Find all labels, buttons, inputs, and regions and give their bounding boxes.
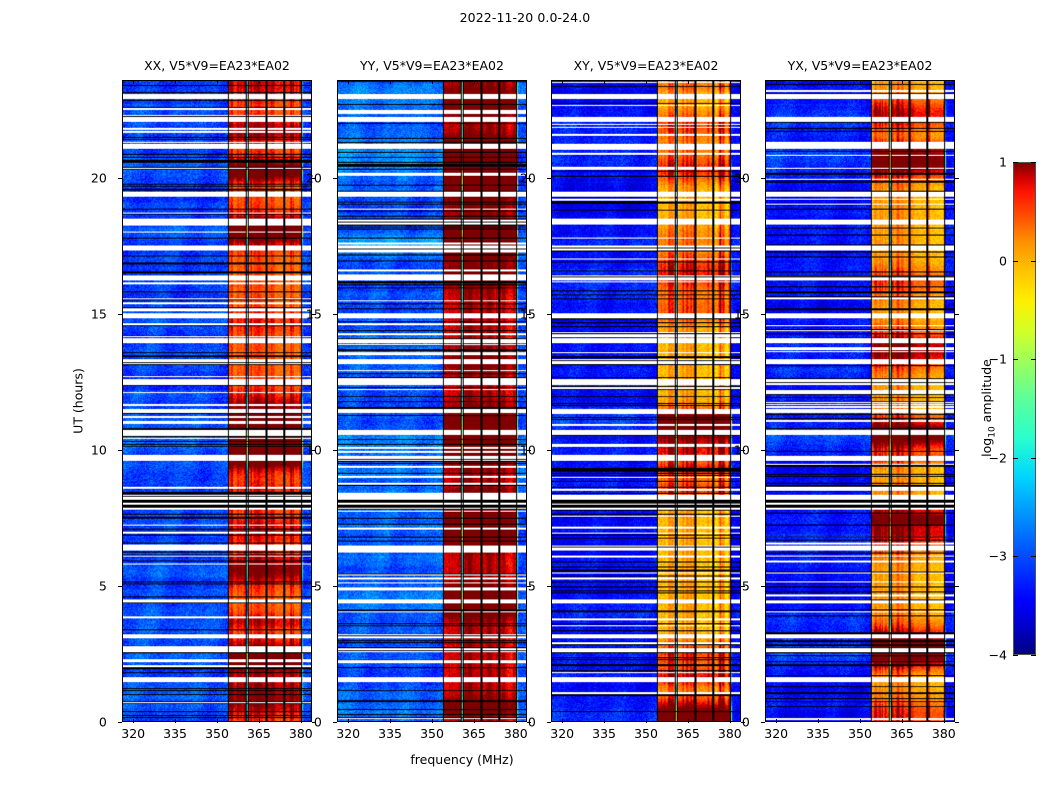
colorbar-tick-mark-right bbox=[1031, 359, 1036, 360]
x-tick-mark-top bbox=[902, 80, 903, 84]
x-tick-label: 380 bbox=[289, 726, 313, 741]
x-tick-mark bbox=[818, 719, 819, 723]
x-tick-mark-top bbox=[818, 80, 819, 84]
x-tick-mark bbox=[562, 719, 563, 723]
y-tick-mark bbox=[761, 178, 765, 179]
y-tick-mark bbox=[333, 450, 337, 451]
y-axis-title: UT (hours) bbox=[71, 368, 86, 434]
colorbar-tick-mark bbox=[1013, 162, 1018, 163]
x-tick-mark-top bbox=[730, 80, 731, 84]
panel-yx[interactable]: YX, V5*V9=EA23*EA02 32033535036538005101… bbox=[765, 80, 955, 722]
x-tick-label: 365 bbox=[676, 726, 700, 741]
colorbar[interactable]: −4−3−2−101 bbox=[1013, 162, 1036, 655]
x-tick-mark-top bbox=[217, 80, 218, 84]
colorbar-gradient bbox=[1013, 162, 1036, 655]
x-tick-label: 380 bbox=[932, 726, 956, 741]
x-tick-label: 365 bbox=[247, 726, 271, 741]
colorbar-tick-label: 1 bbox=[999, 155, 1007, 170]
x-tick-label: 335 bbox=[163, 726, 187, 741]
y-tick-mark-right bbox=[955, 178, 959, 179]
y-tick-mark bbox=[333, 722, 337, 723]
y-tick-label: 20 bbox=[306, 170, 322, 185]
x-tick-mark-top bbox=[688, 80, 689, 84]
y-tick-label: 0 bbox=[528, 715, 536, 730]
x-tick-label: 365 bbox=[890, 726, 914, 741]
x-axis-title: frequency (MHz) bbox=[0, 752, 1050, 767]
y-tick-mark bbox=[547, 586, 551, 587]
y-tick-mark bbox=[547, 178, 551, 179]
y-tick-mark-right bbox=[955, 722, 959, 723]
x-tick-mark bbox=[730, 719, 731, 723]
colorbar-title: log10 amplitude bbox=[979, 359, 998, 457]
x-tick-mark-top bbox=[301, 80, 302, 84]
x-tick-label: 320 bbox=[550, 726, 574, 741]
x-tick-mark bbox=[390, 719, 391, 723]
colorbar-tick-mark-right bbox=[1031, 655, 1036, 656]
panel-xx[interactable]: XX, V5*V9=EA23*EA02 32033535036538005101… bbox=[122, 80, 312, 722]
colorbar-tick-mark-right bbox=[1031, 261, 1036, 262]
x-tick-label: 350 bbox=[205, 726, 229, 741]
y-tick-mark bbox=[333, 178, 337, 179]
x-tick-mark-top bbox=[432, 80, 433, 84]
x-tick-mark bbox=[944, 719, 945, 723]
y-tick-mark bbox=[547, 450, 551, 451]
x-tick-mark-top bbox=[646, 80, 647, 84]
x-tick-label: 335 bbox=[806, 726, 830, 741]
y-tick-mark bbox=[118, 586, 122, 587]
colorbar-tick-mark bbox=[1013, 359, 1018, 360]
heatmap-axes-yx[interactable] bbox=[765, 80, 955, 722]
y-tick-mark bbox=[547, 314, 551, 315]
y-tick-label: 0 bbox=[742, 715, 750, 730]
colorbar-tick-mark bbox=[1013, 556, 1018, 557]
x-tick-label: 350 bbox=[848, 726, 872, 741]
x-tick-mark-top bbox=[259, 80, 260, 84]
x-tick-mark bbox=[217, 719, 218, 723]
colorbar-tick-mark bbox=[1013, 458, 1018, 459]
panel-title-yx: YX, V5*V9=EA23*EA02 bbox=[788, 58, 933, 73]
x-tick-mark-top bbox=[474, 80, 475, 84]
panel-title-xx: XX, V5*V9=EA23*EA02 bbox=[144, 58, 290, 73]
x-tick-mark-top bbox=[516, 80, 517, 84]
colorbar-tick-mark-right bbox=[1031, 556, 1036, 557]
x-tick-label: 335 bbox=[378, 726, 402, 741]
y-tick-label: 20 bbox=[91, 170, 107, 185]
dynamic-spectrum-xx bbox=[123, 81, 311, 721]
y-tick-label: 10 bbox=[520, 442, 536, 457]
y-tick-mark bbox=[761, 450, 765, 451]
y-tick-label: 20 bbox=[734, 170, 750, 185]
x-tick-mark bbox=[301, 719, 302, 723]
y-tick-label: 15 bbox=[91, 306, 107, 321]
y-tick-mark bbox=[761, 586, 765, 587]
x-tick-mark-top bbox=[944, 80, 945, 84]
y-tick-mark bbox=[547, 722, 551, 723]
y-tick-mark bbox=[118, 722, 122, 723]
colorbar-tick-label: 0 bbox=[999, 253, 1007, 268]
heatmap-axes-xy[interactable] bbox=[551, 80, 741, 722]
y-tick-label: 10 bbox=[734, 442, 750, 457]
x-tick-mark-top bbox=[348, 80, 349, 84]
figure-canvas: 2022-11-20 0.0-24.0 XX, V5*V9=EA23*EA02 … bbox=[0, 0, 1050, 800]
x-tick-label: 380 bbox=[718, 726, 742, 741]
x-tick-label: 335 bbox=[592, 726, 616, 741]
y-tick-mark bbox=[118, 178, 122, 179]
dynamic-spectrum-yx bbox=[766, 81, 954, 721]
y-tick-label: 15 bbox=[520, 306, 536, 321]
x-tick-mark bbox=[516, 719, 517, 723]
panel-xy[interactable]: XY, V5*V9=EA23*EA02 32033535036538005101… bbox=[551, 80, 741, 722]
x-tick-mark-top bbox=[860, 80, 861, 84]
x-tick-label: 350 bbox=[420, 726, 444, 741]
x-tick-mark bbox=[432, 719, 433, 723]
x-tick-label: 380 bbox=[504, 726, 528, 741]
colorbar-tick-mark bbox=[1013, 655, 1018, 656]
x-tick-label: 320 bbox=[764, 726, 788, 741]
y-tick-mark bbox=[118, 450, 122, 451]
y-tick-label: 15 bbox=[306, 306, 322, 321]
heatmap-axes-xx[interactable] bbox=[122, 80, 312, 722]
y-tick-mark bbox=[333, 314, 337, 315]
y-tick-mark bbox=[333, 586, 337, 587]
y-tick-mark-right bbox=[955, 314, 959, 315]
y-tick-mark-right bbox=[955, 450, 959, 451]
colorbar-tick-mark bbox=[1013, 261, 1018, 262]
x-tick-mark-top bbox=[604, 80, 605, 84]
x-tick-mark-top bbox=[390, 80, 391, 84]
panel-title-yy: YY, V5*V9=EA23*EA02 bbox=[360, 58, 504, 73]
x-tick-mark bbox=[474, 719, 475, 723]
x-tick-mark bbox=[348, 719, 349, 723]
y-tick-label: 5 bbox=[99, 578, 107, 593]
x-tick-mark bbox=[175, 719, 176, 723]
y-tick-label: 10 bbox=[91, 442, 107, 457]
x-tick-mark-top bbox=[133, 80, 134, 84]
colorbar-tick-label: −4 bbox=[989, 648, 1007, 663]
figure-suptitle: 2022-11-20 0.0-24.0 bbox=[0, 10, 1050, 25]
y-tick-label: 20 bbox=[520, 170, 536, 185]
y-tick-label: 0 bbox=[99, 715, 107, 730]
x-tick-label: 320 bbox=[121, 726, 145, 741]
y-tick-mark bbox=[761, 314, 765, 315]
panel-title-xy: XY, V5*V9=EA23*EA02 bbox=[574, 58, 719, 73]
heatmap-axes-yy[interactable] bbox=[337, 80, 527, 722]
x-tick-mark-top bbox=[175, 80, 176, 84]
x-tick-mark bbox=[646, 719, 647, 723]
colorbar-tick-label: −3 bbox=[989, 549, 1007, 564]
y-tick-label: 5 bbox=[528, 578, 536, 593]
x-tick-mark bbox=[133, 719, 134, 723]
x-tick-mark-top bbox=[776, 80, 777, 84]
y-tick-label: 15 bbox=[734, 306, 750, 321]
x-tick-mark-top bbox=[562, 80, 563, 84]
colorbar-tick-mark-right bbox=[1031, 458, 1036, 459]
x-tick-label: 320 bbox=[336, 726, 360, 741]
x-tick-mark bbox=[688, 719, 689, 723]
y-tick-label: 5 bbox=[742, 578, 750, 593]
x-tick-mark bbox=[604, 719, 605, 723]
y-tick-mark bbox=[118, 314, 122, 315]
x-tick-mark bbox=[776, 719, 777, 723]
y-tick-label: 0 bbox=[314, 715, 322, 730]
x-tick-mark bbox=[259, 719, 260, 723]
x-tick-label: 365 bbox=[462, 726, 486, 741]
dynamic-spectrum-yy bbox=[338, 81, 526, 721]
x-tick-label: 350 bbox=[634, 726, 658, 741]
y-tick-mark bbox=[761, 722, 765, 723]
dynamic-spectrum-xy bbox=[552, 81, 740, 721]
y-tick-label: 5 bbox=[314, 578, 322, 593]
x-tick-mark bbox=[860, 719, 861, 723]
y-tick-mark-right bbox=[955, 586, 959, 587]
y-tick-label: 10 bbox=[306, 442, 322, 457]
x-tick-mark bbox=[902, 719, 903, 723]
panel-yy[interactable]: YY, V5*V9=EA23*EA02 32033535036538005101… bbox=[337, 80, 527, 722]
colorbar-tick-mark-right bbox=[1031, 162, 1036, 163]
